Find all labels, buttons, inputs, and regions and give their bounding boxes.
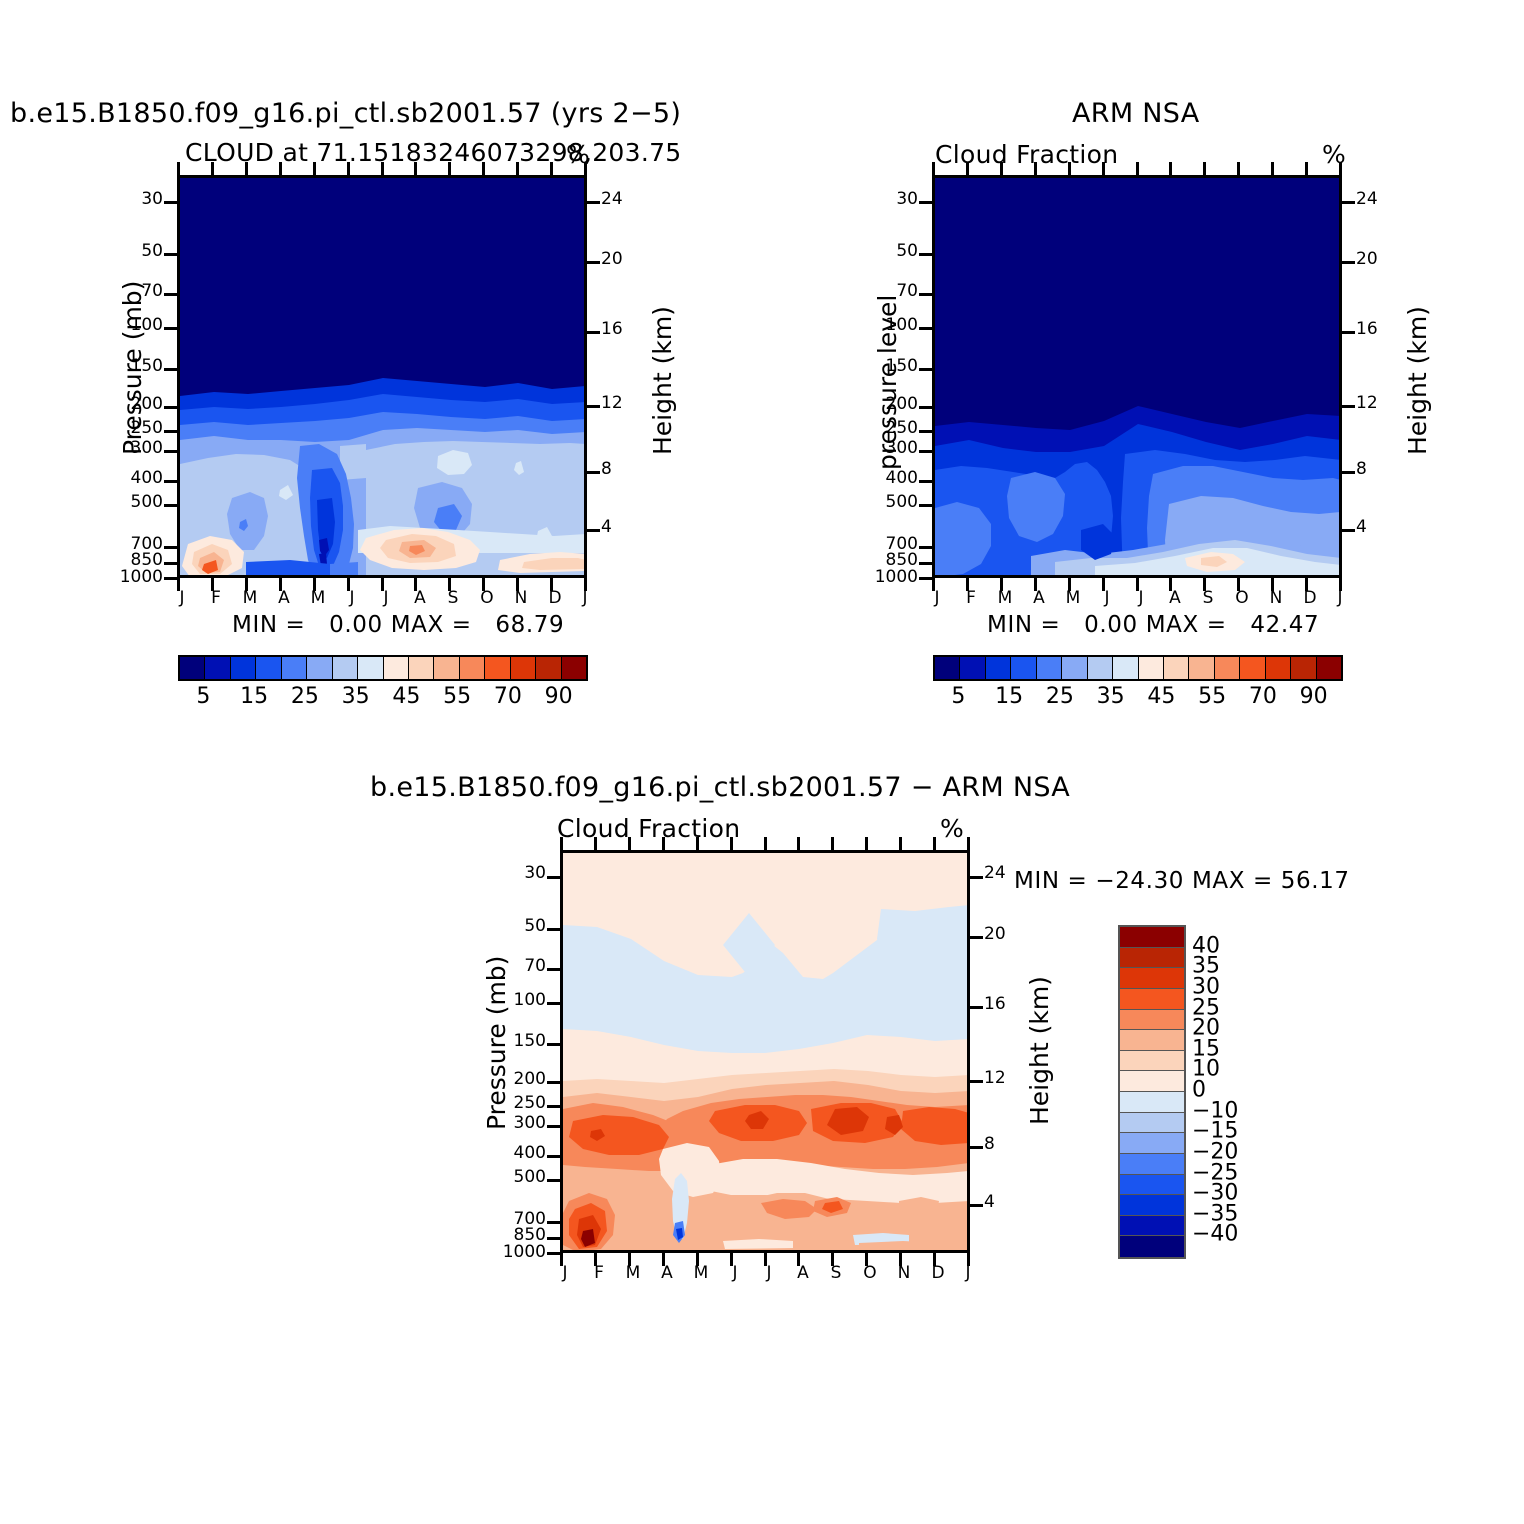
y-axis-tick [164, 546, 177, 549]
x-axis-tick [550, 578, 553, 591]
x-axis-top-tick [967, 837, 970, 850]
x-axis-tick [831, 1253, 834, 1266]
x-axis-top-tick [448, 162, 451, 175]
y2-axis-tick [970, 1006, 983, 1009]
x-axis-tick [865, 1253, 868, 1266]
x-axis-tick [245, 578, 248, 591]
y-axis-tick [919, 577, 932, 580]
difference-panel-subtitle: Cloud Fraction [557, 814, 740, 843]
y-axis-tick [164, 253, 177, 256]
y-axis-tick [919, 430, 932, 433]
x-axis-top-tick [1203, 162, 1206, 175]
colorbar-segment [1120, 1216, 1184, 1237]
colorbar-tick-label: 90 [1300, 684, 1328, 709]
y-axis-tick [919, 406, 932, 409]
x-axis-tick [1339, 578, 1342, 591]
colorbar-segment [1120, 1092, 1184, 1113]
colorbar-segment [460, 657, 485, 679]
x-axis-tick [628, 1253, 631, 1266]
model-max-label: MAX = [391, 612, 472, 638]
y-axis-tick [547, 1105, 560, 1108]
y-axis-tick [919, 546, 932, 549]
colorbar-tick-label: 45 [1147, 684, 1175, 709]
x-axis-top-tick [730, 837, 733, 850]
model-panel-title: b.e15.B1850.f09_g16.pi_ctl.sb2001.57 (yr… [10, 98, 681, 129]
x-axis-tick [584, 578, 587, 591]
x-axis-tick [1305, 578, 1308, 591]
y-axis-tick [164, 480, 177, 483]
y2-axis-tick [587, 261, 600, 264]
y-axis-tick [547, 1155, 560, 1158]
x-axis-tick [177, 578, 180, 591]
colorbar-segment [1120, 1195, 1184, 1216]
colorbar-tick-label: 15 [995, 684, 1023, 709]
x-axis-top-tick [414, 162, 417, 175]
x-axis-top-tick [177, 162, 180, 175]
colorbar-segment [1120, 1010, 1184, 1031]
colorbar-segment [1139, 657, 1164, 679]
x-axis-top-tick [865, 837, 868, 850]
model-panel-subtitle: CLOUD at 71.15183246073298,203.75 [185, 138, 682, 167]
x-axis-tick [594, 1253, 597, 1266]
y2-axis-tick [970, 1204, 983, 1207]
y-axis-tick [547, 1237, 560, 1240]
y-axis-tick [164, 450, 177, 453]
x-axis-top-tick [1271, 162, 1274, 175]
y-axis-tick [919, 327, 932, 330]
y-axis-tick [164, 562, 177, 565]
x-axis-tick [279, 578, 282, 591]
obs-max-label: MAX = [1146, 612, 1227, 638]
colorbar-tick-label: 35 [1097, 684, 1125, 709]
colorbar-segment [384, 657, 409, 679]
x-axis-tick [1068, 578, 1071, 591]
x-axis-tick [560, 1253, 563, 1266]
y2-axis-tick [1342, 529, 1355, 532]
y-axis-tick [547, 1002, 560, 1005]
x-axis-tick [797, 1253, 800, 1266]
x-axis-tick [1203, 578, 1206, 591]
colorbar-segment [434, 657, 459, 679]
x-axis-top-tick [313, 162, 316, 175]
x-axis-top-tick [899, 837, 902, 850]
difference-panel-y2label: Height (km) [1025, 976, 1054, 1125]
colorbar-segment [1120, 1030, 1184, 1051]
x-axis-top-tick [662, 837, 665, 850]
x-axis-top-tick [211, 162, 214, 175]
x-axis-top-tick [584, 162, 587, 175]
colorbar-segment [205, 657, 230, 679]
obs-min-label: MIN = [987, 612, 1060, 638]
obs-panel-units: % [1322, 140, 1346, 169]
colorbar-segment [1037, 657, 1062, 679]
y2-axis-tick [970, 936, 983, 939]
x-axis-tick [381, 578, 384, 591]
colorbar-tick-label: 70 [494, 684, 522, 709]
x-axis-top-tick [696, 837, 699, 850]
colorbar-segment [1062, 657, 1087, 679]
x-axis-tick [730, 1253, 733, 1266]
y-axis-tick [547, 1221, 560, 1224]
x-axis-top-tick [1068, 162, 1071, 175]
x-axis-top-tick [831, 837, 834, 850]
colorbar-segment [1088, 657, 1113, 679]
x-axis-tick [932, 578, 935, 591]
x-axis-tick [211, 578, 214, 591]
y-axis-tick [547, 1043, 560, 1046]
y-axis-tick [919, 450, 932, 453]
colorbar-segment [409, 657, 434, 679]
colorbar-segment [1120, 1071, 1184, 1092]
y-axis-tick [919, 293, 932, 296]
x-axis-top-tick [1000, 162, 1003, 175]
difference-panel-minmax: MIN = −24.30 MAX = 56.17 [1014, 868, 1350, 894]
x-axis-tick [966, 578, 969, 591]
x-axis-top-tick [932, 162, 935, 175]
colorbar-segment [307, 657, 332, 679]
colorbar-segment [1291, 657, 1316, 679]
x-axis-top-tick [933, 837, 936, 850]
x-axis-top-tick [550, 162, 553, 175]
x-axis-top-tick [764, 837, 767, 850]
x-axis-top-tick [1339, 162, 1342, 175]
colorbar-segment [1120, 948, 1184, 969]
y-axis-tick [547, 1081, 560, 1084]
obs-panel-minmax: MIN = 0.00 MAX = 42.47 [987, 612, 1319, 638]
colorbar-segment [960, 657, 985, 679]
x-axis-top-tick [560, 837, 563, 850]
y-axis-tick [919, 201, 932, 204]
y-axis-tick [164, 327, 177, 330]
model-panel-y2label: Height (km) [648, 306, 677, 455]
colorbar-tick-label: 55 [443, 684, 471, 709]
y-axis-tick [919, 253, 932, 256]
x-axis-tick [1102, 578, 1105, 591]
obs-panel-title: ARM NSA [1072, 98, 1200, 129]
x-axis-top-tick [1102, 162, 1105, 175]
colorbar-tick-label: 25 [1046, 684, 1074, 709]
y-axis-tick [919, 562, 932, 565]
colorbar-segment [1120, 1236, 1184, 1257]
colorbar-tick-label: 45 [392, 684, 420, 709]
difference-panel-plot-area [560, 850, 970, 1253]
y2-axis-tick [587, 201, 600, 204]
colorbar-segment [986, 657, 1011, 679]
y-axis-tick [164, 293, 177, 296]
x-axis-tick [482, 578, 485, 591]
x-axis-top-tick [1169, 162, 1172, 175]
colorbar-segment [1120, 927, 1184, 948]
colorbar-segment [180, 657, 205, 679]
model-panel-minmax: MIN = 0.00 MAX = 68.79 [232, 612, 564, 638]
model-max-value: 68.79 [495, 612, 564, 638]
colorbar-segment [1120, 968, 1184, 989]
model-panel-colorbar [178, 655, 588, 681]
colorbar-segment [1120, 1154, 1184, 1175]
x-axis-top-tick [516, 162, 519, 175]
colorbar-segment [1120, 1113, 1184, 1134]
y-axis-tick [547, 1179, 560, 1182]
x-axis-tick [899, 1253, 902, 1266]
colorbar-segment [1266, 657, 1291, 679]
colorbar-tick-label: 55 [1198, 684, 1226, 709]
x-axis-top-tick [628, 837, 631, 850]
x-axis-tick [516, 578, 519, 591]
obs-panel-y2label: Height (km) [1403, 306, 1432, 455]
x-axis-top-tick [1034, 162, 1037, 175]
model-min-value: 0.00 [329, 612, 383, 638]
y2-axis-tick [970, 876, 983, 879]
x-axis-tick [967, 1253, 970, 1266]
x-axis-top-tick [347, 162, 350, 175]
difference-panel-units: % [940, 814, 964, 843]
colorbar-segment [1189, 657, 1214, 679]
x-axis-tick [414, 578, 417, 591]
obs-panel-colorbar [933, 655, 1343, 681]
difference-panel-title: b.e15.B1850.f09_g16.pi_ctl.sb2001.57 − A… [370, 772, 1070, 803]
colorbar-tick-label: 25 [291, 684, 319, 709]
difference-panel-colorbar [1118, 925, 1186, 1259]
colorbar-segment [511, 657, 536, 679]
colorbar-segment [358, 657, 383, 679]
y-axis-tick [164, 430, 177, 433]
y-axis-tick [547, 1125, 560, 1128]
y2-axis-tick [1342, 331, 1355, 334]
x-axis-top-tick [482, 162, 485, 175]
x-axis-top-tick [1305, 162, 1308, 175]
x-axis-tick [1136, 578, 1139, 591]
y-axis-tick [547, 968, 560, 971]
y-axis-tick [164, 201, 177, 204]
y2-axis-tick [587, 471, 600, 474]
x-axis-tick [1000, 578, 1003, 591]
colorbar-tick-label: −40 [1192, 1222, 1238, 1247]
x-axis-tick [1034, 578, 1037, 591]
y2-axis-tick [587, 529, 600, 532]
y2-axis-tick [970, 1146, 983, 1149]
y2-axis-tick [587, 331, 600, 334]
y-axis-tick [164, 504, 177, 507]
y-axis-tick [547, 928, 560, 931]
x-axis-top-tick [381, 162, 384, 175]
x-axis-top-tick [279, 162, 282, 175]
colorbar-segment [1317, 657, 1341, 679]
colorbar-segment [1120, 1175, 1184, 1196]
x-axis-top-tick [245, 162, 248, 175]
obs-max-value: 42.47 [1250, 612, 1319, 638]
x-axis-top-tick [594, 837, 597, 850]
colorbar-tick-label: 5 [951, 684, 965, 709]
y2-axis-tick [1342, 201, 1355, 204]
colorbar-segment [1215, 657, 1240, 679]
y-axis-tick [164, 368, 177, 371]
obs-min-value: 0.00 [1084, 612, 1138, 638]
colorbar-segment [231, 657, 256, 679]
y-axis-tick [164, 577, 177, 580]
y-axis-tick [547, 1252, 560, 1255]
x-axis-top-tick [797, 837, 800, 850]
y2-axis-tick [1342, 471, 1355, 474]
model-panel-plot-area [177, 175, 587, 578]
colorbar-tick-label: 90 [545, 684, 573, 709]
x-axis-top-tick [966, 162, 969, 175]
x-axis-tick [1169, 578, 1172, 591]
colorbar-segment [256, 657, 281, 679]
colorbar-segment [1113, 657, 1138, 679]
colorbar-segment [1240, 657, 1265, 679]
obs-panel-subtitle: Cloud Fraction [935, 140, 1118, 169]
colorbar-segment [1120, 1133, 1184, 1154]
colorbar-tick-label: 35 [342, 684, 370, 709]
y2-axis-tick [970, 1080, 983, 1083]
colorbar-tick-label: 5 [196, 684, 210, 709]
colorbar-segment [485, 657, 510, 679]
model-min-label: MIN = [232, 612, 305, 638]
colorbar-segment [1164, 657, 1189, 679]
colorbar-segment [935, 657, 960, 679]
colorbar-segment [282, 657, 307, 679]
y-axis-tick [919, 480, 932, 483]
colorbar-segment [333, 657, 358, 679]
x-axis-tick [313, 578, 316, 591]
y-axis-tick [919, 504, 932, 507]
colorbar-segment [1120, 1051, 1184, 1072]
colorbar-tick-label: 70 [1249, 684, 1277, 709]
y2-axis-tick [587, 405, 600, 408]
colorbar-segment [536, 657, 561, 679]
x-axis-tick [448, 578, 451, 591]
x-axis-tick [933, 1253, 936, 1266]
y2-axis-tick [1342, 261, 1355, 264]
x-axis-top-tick [1237, 162, 1240, 175]
colorbar-segment [1011, 657, 1036, 679]
y-axis-tick [919, 368, 932, 371]
y2-axis-tick [1342, 405, 1355, 408]
x-axis-top-tick [1136, 162, 1139, 175]
colorbar-segment [1120, 989, 1184, 1010]
y-axis-tick [547, 876, 560, 879]
colorbar-segment [562, 657, 586, 679]
obs-panel-plot-area [932, 175, 1342, 578]
x-axis-tick [347, 578, 350, 591]
y-axis-tick [164, 406, 177, 409]
x-axis-tick [764, 1253, 767, 1266]
x-axis-tick [1271, 578, 1274, 591]
x-axis-tick [696, 1253, 699, 1266]
x-axis-tick [1237, 578, 1240, 591]
x-axis-tick [662, 1253, 665, 1266]
colorbar-tick-label: 15 [240, 684, 268, 709]
